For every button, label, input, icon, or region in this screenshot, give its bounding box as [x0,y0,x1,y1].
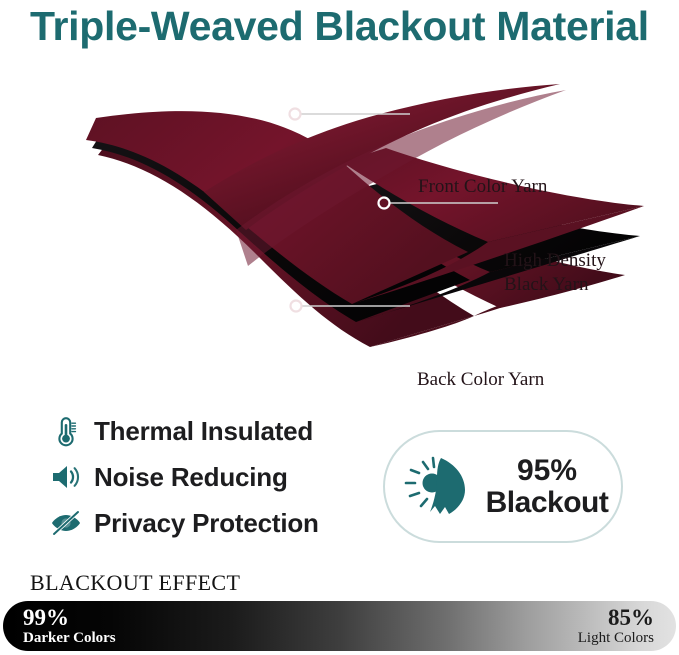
blackout-effect-right-label: Light Colors [578,629,654,647]
callout-ring-icon [290,109,301,120]
callout-label-back: Back Color Yarn [417,368,544,392]
blackout-percent: 95% [483,455,611,487]
thermometer-icon [44,411,88,451]
feature-item-noise: Noise Reducing [44,454,374,500]
blackout-effect-left-label: Darker Colors [23,629,116,647]
callout-label-high-density-line2: Black Yarn [504,273,606,297]
blackout-effect-right-percent: 85% [608,606,654,629]
sun-behind-curtain-icon [395,454,483,520]
feature-item-thermal: Thermal Insulated [44,408,374,454]
blackout-word: Blackout [483,487,611,519]
speaker-icon [44,457,88,497]
eye-slash-icon [44,503,88,543]
page-title: Triple-Weaved Blackout Material [30,0,655,52]
callout-label-front: Front Color Yarn [418,175,547,199]
blackout-badge-text: 95% Blackout [483,455,621,519]
blackout-effect-right: 85% Light Colors [578,601,654,651]
blackout-effect-heading: BLACKOUT EFFECT [30,570,240,596]
blackout-effect-left-percent: 99% [23,606,69,629]
feature-list: Thermal Insulated Noise Reducing Privacy… [44,408,374,546]
callout-label-high-density-line1: High Density [504,249,606,273]
blackout-effect-gradient-bar: 99% Darker Colors 85% Light Colors [3,601,676,651]
fabric-layers-illustration [0,70,679,350]
feature-label-noise: Noise Reducing [94,462,288,493]
feature-item-privacy: Privacy Protection [44,500,374,546]
callout-label-high-density: High Density Black Yarn [504,249,606,297]
blackout-badge: 95% Blackout [383,430,623,543]
feature-label-thermal: Thermal Insulated [94,416,313,447]
blackout-effect-left: 99% Darker Colors [23,601,116,651]
feature-label-privacy: Privacy Protection [94,508,319,539]
fabric-layers-diagram: Front Color Yarn High Density Black Yarn… [0,70,679,350]
callout-ring-icon [291,301,302,312]
